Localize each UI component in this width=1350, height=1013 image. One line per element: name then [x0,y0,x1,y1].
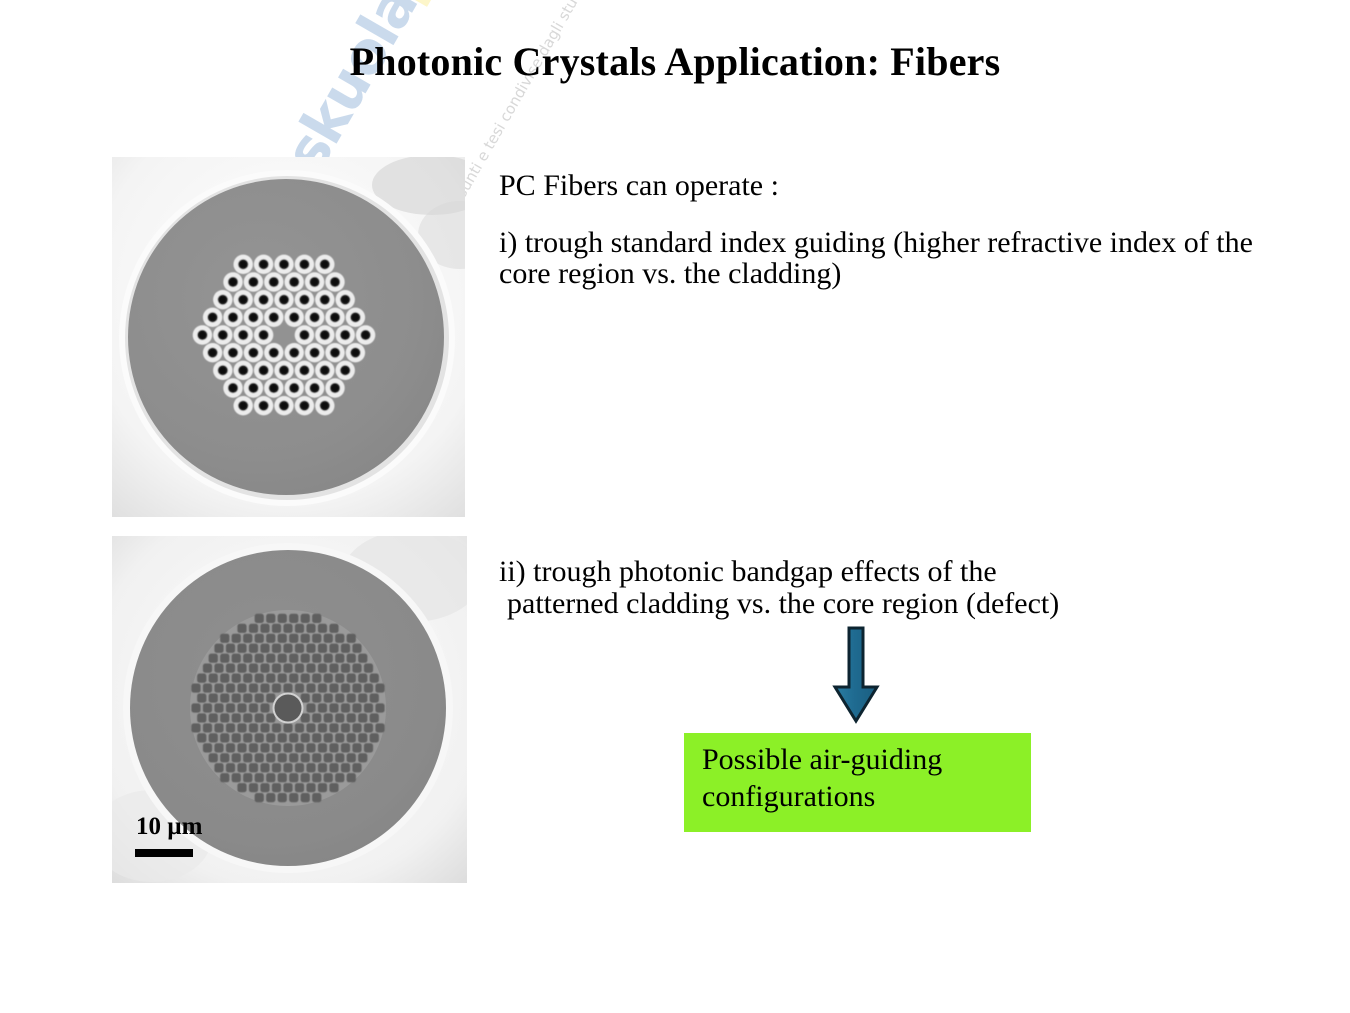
slide-title: Photonic Crystals Application: Fibers [0,38,1350,85]
text-point-i: i) trough standard index guiding (higher… [499,228,1261,289]
text-point-ii-line2: patterned cladding vs. the core region (… [499,588,1219,620]
text-point-ii-line1: ii) trough photonic bandgap effects of t… [499,555,997,588]
watermark-logo-text: skuola [271,0,431,183]
scale-bar-label: 10 µm [136,813,203,840]
callout-air-guiding: Possible air-guiding configurations [684,733,1031,832]
watermark-logo: skuola.net [271,0,475,183]
scale-bar [135,849,193,857]
callout-line-2: configurations [702,779,1031,816]
figure-photonic-bandgap-fiber: 10 µm [112,536,467,883]
callout-line-1: Possible air-guiding [702,742,1031,779]
text-point-ii: ii) trough photonic bandgap effects of t… [499,556,1219,619]
watermark-logo-suffix: .net [387,0,472,7]
photonic-bandgap-fiber-image: 10 µm [112,536,467,883]
index-guiding-fiber-image [112,157,465,517]
arrow-shape [835,628,877,721]
figure-index-guiding-fiber [112,157,465,517]
text-intro: PC Fibers can operate : [499,171,1269,201]
down-arrow [829,625,883,725]
